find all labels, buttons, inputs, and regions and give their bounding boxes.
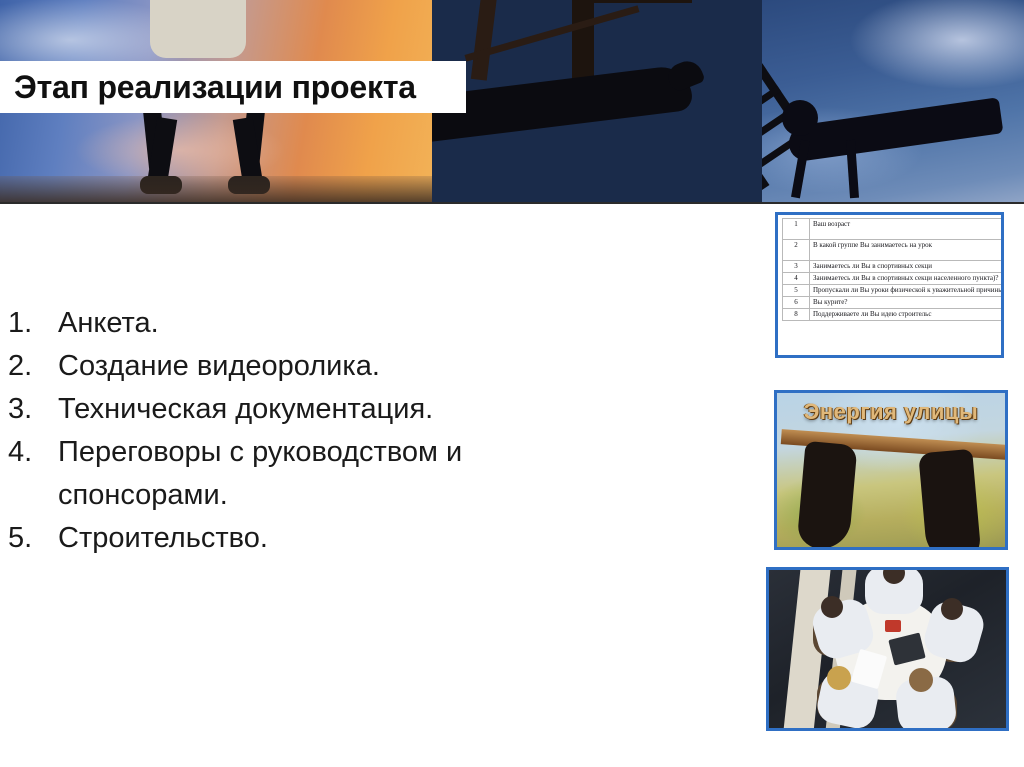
hanging-leg-left-shape xyxy=(796,441,857,550)
person-head-shape xyxy=(827,666,851,690)
table-row: 4 Занимаетесь ли Вы в спортивных секци н… xyxy=(783,273,1005,285)
list-item-number: 4. xyxy=(8,431,58,474)
table-cell-index: 3 xyxy=(783,261,810,273)
list-item-number: 1. xyxy=(8,302,58,345)
table-cell-question: Поддерживаете ли Вы идею строительс xyxy=(810,309,1005,321)
list-item-label: Техническая документация. xyxy=(58,388,648,431)
energy-photo-caption: Энергия улицы xyxy=(777,399,1005,425)
table-cell-question: Пропускали ли Вы уроки физической к уваж… xyxy=(810,285,1005,297)
bar-post-left-shape xyxy=(471,0,497,81)
page-title: Этап реализации проекта xyxy=(0,69,416,106)
list-item-label: Строительство. xyxy=(58,517,648,560)
table-cell-question: Вы курите? xyxy=(810,297,1005,309)
table-cell-question: Занимаетесь ли Вы в спортивных секци xyxy=(810,261,1005,273)
list-item: 1. Анкета. xyxy=(8,302,648,345)
table-cell-question: Занимаетесь ли Вы в спортивных секци нас… xyxy=(810,273,1005,285)
handstand-shoe-right-shape xyxy=(228,176,270,194)
slide-title-box: Этап реализации проекта xyxy=(0,61,466,113)
list-item-number: 2. xyxy=(8,345,58,388)
list-item: 3. Техническая документация. xyxy=(8,388,648,431)
table-cell-index: 5 xyxy=(783,285,810,297)
list-item-label: Создание видеоролика. xyxy=(58,345,648,388)
energy-street-photo: Энергия улицы xyxy=(774,390,1008,550)
handstand-shorts-shape xyxy=(150,0,246,58)
list-item-number: 5. xyxy=(8,517,58,560)
bar-post-right-shape xyxy=(572,0,594,86)
table-row: 8 Поддерживаете ли Вы идею строительс xyxy=(783,309,1005,321)
hanging-leg-right-shape xyxy=(918,449,982,550)
bar-top-beam-shape xyxy=(582,0,692,3)
handstand-shoe-left-shape xyxy=(140,176,182,194)
questionnaire-table: 1 Ваш возраст 2 В какой группе Вы занима… xyxy=(782,218,1004,321)
banner-panel-ladder-sky xyxy=(762,0,1024,202)
table-cell-index: 6 xyxy=(783,297,810,309)
table-row: 3 Занимаетесь ли Вы в спортивных секци xyxy=(783,261,1005,273)
table-cell-question: Ваш возраст xyxy=(810,219,1005,240)
table-row: 6 Вы курите? xyxy=(783,297,1005,309)
person-head-shape xyxy=(909,668,933,692)
person-head-shape xyxy=(821,596,843,618)
red-object-shape xyxy=(885,620,901,632)
banner-panel-horizontal-bar xyxy=(432,0,762,202)
table-row: 2 В какой группе Вы занимаетесь на урок xyxy=(783,240,1005,261)
table-row: 1 Ваш возраст xyxy=(783,219,1005,240)
meeting-photo xyxy=(766,567,1009,731)
table-cell-index: 4 xyxy=(783,273,810,285)
list-item: 5. Строительство. xyxy=(8,517,648,560)
table-cell-index: 1 xyxy=(783,219,810,240)
table-cell-index: 8 xyxy=(783,309,810,321)
list-item: 2. Создание видеоролика. xyxy=(8,345,648,388)
table-cell-question: В какой группе Вы занимаетесь на урок xyxy=(810,240,1005,261)
ladder-shape xyxy=(762,0,895,190)
list-item-label: Анкета. xyxy=(58,302,648,345)
table-row: 5 Пропускали ли Вы уроки физической к ув… xyxy=(783,285,1005,297)
ladder-figure-head-shape xyxy=(782,100,818,136)
person-head-shape xyxy=(941,598,963,620)
list-item-number: 3. xyxy=(8,388,58,431)
list-item-label-continuation: спонсорами. xyxy=(8,474,648,517)
numbered-list: 1. Анкета. 2. Создание видеоролика. 3. Т… xyxy=(8,302,648,560)
list-item: 4. Переговоры с руководством и xyxy=(8,431,648,474)
questionnaire-table-image: 1 Ваш возраст 2 В какой группе Вы занима… xyxy=(775,212,1004,358)
list-item-label: Переговоры с руководством и xyxy=(58,431,648,474)
table-cell-index: 2 xyxy=(783,240,810,261)
